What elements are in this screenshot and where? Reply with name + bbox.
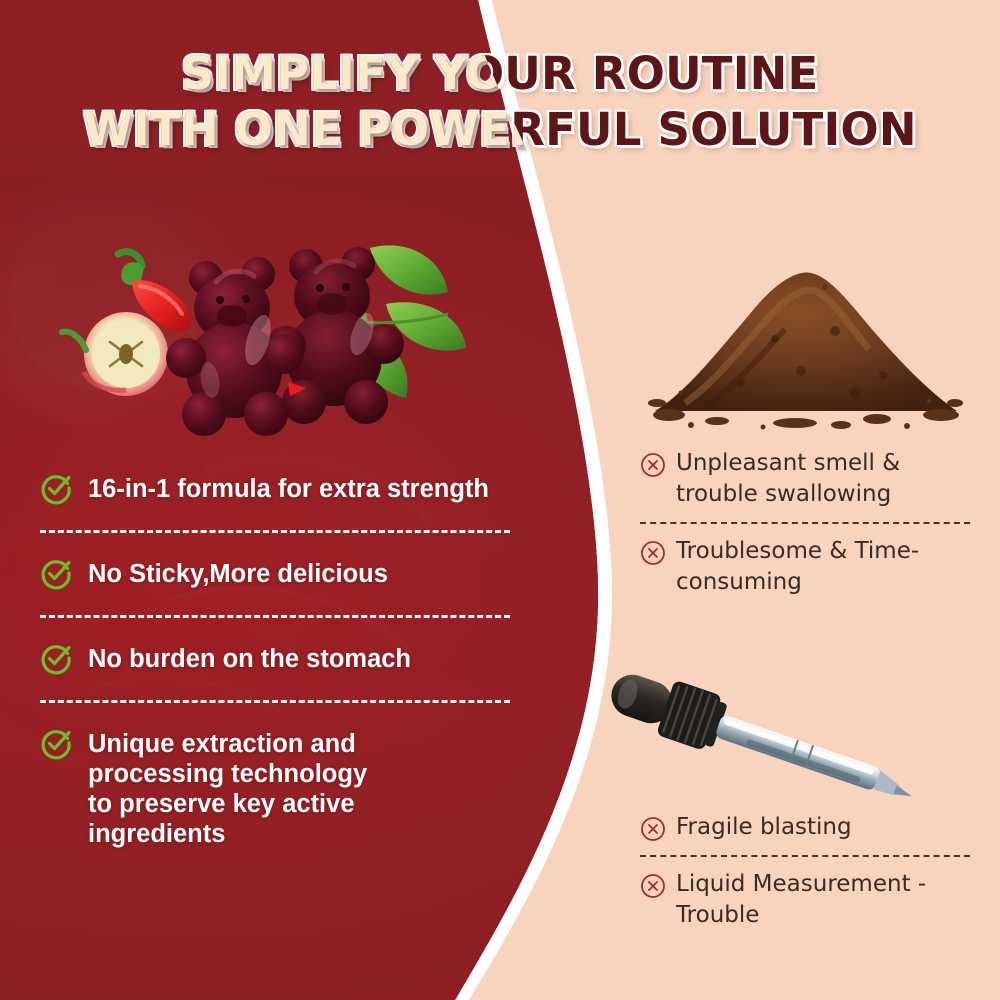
check-circle-icon — [40, 472, 72, 504]
drawback-text: Fragile blasting — [676, 812, 852, 843]
drawback-text: Liquid Measurement - Trouble — [676, 869, 970, 931]
infographic-canvas: SIMPLIFY YOUR ROUTINE WITH ONE POWERFUL … — [0, 0, 1000, 1000]
list-item: No burden on the stomach — [40, 642, 530, 674]
check-circle-icon — [40, 727, 72, 759]
cross-circle-icon — [640, 812, 666, 842]
check-circle-icon — [40, 642, 72, 674]
gummy-bear-front — [166, 257, 304, 436]
list-item: 16-in-1 formula for extra strength — [40, 472, 530, 504]
benefit-text: No Sticky,More delicious — [88, 557, 388, 589]
drawback-text: Unpleasant smell & trouble swallowing — [676, 448, 970, 510]
list-item: Unpleasant smell & trouble swallowing — [640, 448, 970, 510]
cross-circle-icon — [640, 536, 666, 566]
benefits-list: 16-in-1 formula for extra strength No St… — [40, 472, 530, 849]
gummy-product-image — [70, 230, 470, 445]
cross-circle-icon — [640, 869, 666, 899]
list-divider — [40, 530, 510, 533]
list-item: No Sticky,More delicious — [40, 557, 530, 589]
apple-half — [62, 312, 168, 396]
drawback-text: Troublesome & Time-consuming — [676, 536, 970, 598]
cross-circle-icon — [640, 448, 666, 478]
page-title: SIMPLIFY YOUR ROUTINE WITH ONE POWERFUL … — [0, 46, 1000, 178]
list-item: Liquid Measurement - Trouble — [640, 869, 970, 931]
list-item: Unique extraction and processing technol… — [40, 727, 530, 849]
list-divider — [40, 700, 510, 703]
benefit-text: 16-in-1 formula for extra strength — [88, 472, 489, 504]
drawbacks-list-top: Unpleasant smell & trouble swallowing Tr… — [640, 448, 970, 598]
drawbacks-list-bottom: Fragile blasting Liquid Measurement - Tr… — [640, 812, 970, 931]
benefit-text: No burden on the stomach — [88, 642, 411, 674]
list-item: Fragile blasting — [640, 812, 970, 843]
benefit-text: Unique extraction and processing technol… — [88, 727, 398, 849]
check-circle-icon — [40, 557, 72, 589]
dropper-pipette-image — [605, 655, 935, 805]
powder-pile-image — [645, 243, 965, 428]
list-divider — [40, 615, 510, 618]
list-item: Troublesome & Time-consuming — [640, 536, 970, 598]
